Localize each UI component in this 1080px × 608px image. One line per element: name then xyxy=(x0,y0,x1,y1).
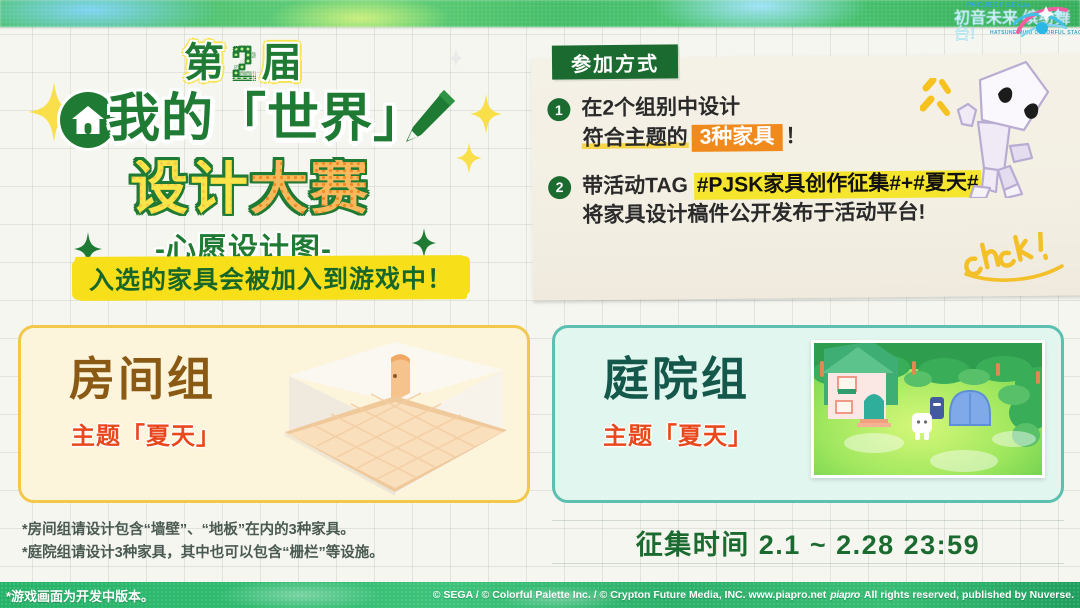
step-1-line-1: 在2个组别中设计 xyxy=(581,92,806,124)
step-2-line-1: 带活动TAG #PJSK家具创作征集#+#夏天#， xyxy=(582,168,1003,202)
top-game-strip xyxy=(0,0,1080,27)
logo-swoosh-icon xyxy=(1012,4,1068,38)
edition-prefix: 第 xyxy=(184,43,224,83)
footer-copyright-a: © SEGA / © Colorful Palette Inc. / © Cry… xyxy=(433,589,826,601)
card-garden-group[interactable]: 庭院组 主题「夏天」 xyxy=(552,325,1064,503)
edition-number: 2 xyxy=(227,40,259,86)
footer-bar: *游戏画面为开发中版本。 © SEGA / © Colorful Palette… xyxy=(0,582,1080,608)
step-2-line-2: 将家具设计稿件公开发布于活动平台! xyxy=(582,197,1003,231)
highlight-banner: 入选的家具会被加入到游戏中！ xyxy=(74,257,468,299)
card-garden-title: 庭院组 xyxy=(603,356,750,402)
step-1-highlight: 3种家具 xyxy=(692,124,783,152)
schedule-row: 征集时间 2.1 ~ 2.28 23:59 xyxy=(552,520,1064,564)
card-room-title: 房间组 xyxy=(69,356,216,402)
banner-stage: PROJECT SEKAI 初音未来 缤纷舞台! HATSUNE MIKU CO… xyxy=(0,0,1080,608)
step-1-line-2: 符合主题的3种家具！ xyxy=(582,122,807,154)
mascot-character xyxy=(948,58,1052,198)
sparkle-icon xyxy=(412,228,436,258)
title-line-main: 我的「世界」 xyxy=(108,88,426,150)
pencil-icon xyxy=(398,88,458,150)
title-contest-text: 大赛 xyxy=(250,160,370,218)
card-garden-theme: 主题「夏天」 xyxy=(603,416,753,451)
sparkle-icon xyxy=(448,48,464,68)
sparkle-icon xyxy=(470,94,502,134)
schedule-text: 征集时间 2.1 ~ 2.28 23:59 xyxy=(636,523,980,562)
title-design-text: 设计 xyxy=(130,160,250,218)
top-strip-shadow xyxy=(0,27,1080,30)
footnote-garden: *庭院组请设计3种家具，其中也可以包含“栅栏”等设施。 xyxy=(22,542,522,565)
step-1-prefix: 符合主题的 xyxy=(582,126,689,150)
footer-dev-note: *游戏画面为开发中版本。 xyxy=(6,586,154,605)
footnotes-list: *房间组请设计包含“墙壁”、“地板”在内的3种家具。 *庭院组请设计3种家具，其… xyxy=(22,519,522,566)
footnote-room: *房间组请设计包含“墙壁”、“地板”在内的3种家具。 xyxy=(22,519,522,542)
check-handwriting-decoration xyxy=(960,232,1068,284)
join-method-tag-text: 参加方式 xyxy=(571,47,659,77)
footer-copyright-b: All rights reserved, published by Nuvers… xyxy=(864,589,1074,601)
step-1-suffix: ！ xyxy=(785,125,806,148)
sparkle-icon xyxy=(456,142,482,174)
highlight-banner-text: 入选的家具会被加入到游戏中！ xyxy=(89,259,453,297)
step-2-prefix: 带活动TAG xyxy=(582,174,688,198)
title-line-contest: 设计 大赛 xyxy=(130,154,370,224)
edition-suffix: 届 xyxy=(262,43,302,83)
step-number-badge: 1 xyxy=(547,98,570,121)
step-number-badge: 2 xyxy=(548,176,571,199)
title-main-text: 我的「世界」 xyxy=(108,93,426,145)
edition-line: 第 2 届 xyxy=(184,40,302,86)
pjsk-logo: PROJECT SEKAI 初音未来 缤纷舞台! HATSUNE MIKU CO… xyxy=(946,1,1074,41)
card-room-group[interactable]: 房间组 主题「夏天」 xyxy=(18,325,530,503)
step-2-tag-highlight: #PJSK家具创作征集#+#夏天# xyxy=(694,170,982,200)
card-room-theme: 主题「夏天」 xyxy=(71,416,221,451)
garden-gameplay-screenshot xyxy=(811,340,1045,478)
join-method-tag: 参加方式 xyxy=(552,44,678,79)
isometric-room-illustration xyxy=(271,336,521,496)
piapro-logo-text: piapro xyxy=(830,589,860,601)
footer-copyright: © SEGA / © Colorful Palette Inc. / © Cry… xyxy=(433,589,1074,601)
